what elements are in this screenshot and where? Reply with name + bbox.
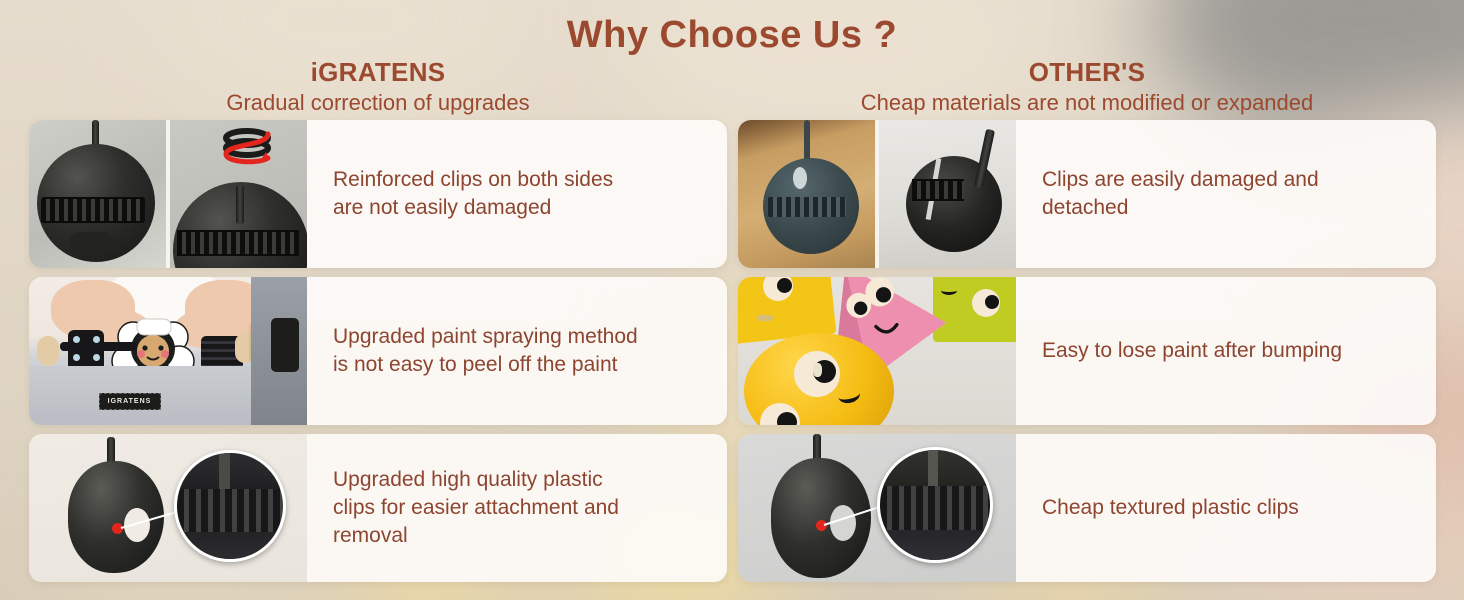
feature-card: Reinforced clips on both sides are not e… [29,120,727,268]
red-spiral-arrow-icon [208,126,286,176]
column-header-others: OTHER'S Cheap materials are not modified… [738,58,1436,116]
magnified-inset [877,447,993,563]
feature-text: Reinforced clips on both sides are not e… [307,120,727,268]
comparison-column-right: Clips are easily damaged and detached [738,120,1436,591]
feature-image-reinforced-clips [29,120,307,268]
feature-text: Upgraded high quality plastic clips for … [307,434,727,582]
feature-card: Clips are easily damaged and detached [738,120,1436,268]
page-title: Why Choose Us ? [0,14,1464,57]
feature-image-paint-spraying: IGRATENS [29,277,307,425]
column-name-left: iGRATENS [29,58,727,87]
feature-image-damaged-clips [738,120,1016,268]
brand-tag: IGRATENS [99,393,161,410]
column-subtitle-left: Gradual correction of upgrades [29,90,727,116]
feature-text: Easy to lose paint after bumping [1016,277,1436,425]
feature-text-line: detached [1042,194,1319,222]
feature-text-line: is not easy to peel off the paint [333,351,638,379]
column-subtitle-right: Cheap materials are not modified or expa… [738,90,1436,116]
feature-card: IGRATENS Upgraded paint spraying method … [29,277,727,425]
feature-image-quality-clips [29,434,307,582]
comparison-column-left: Reinforced clips on both sides are not e… [29,120,727,591]
feature-card: Cheap textured plastic clips [738,434,1436,582]
feature-text-line: Upgraded high quality plastic [333,466,619,494]
feature-text-line: Easy to lose paint after bumping [1042,337,1342,365]
feature-text-line: Clips are easily damaged and [1042,166,1319,194]
feature-text-line: Reinforced clips on both sides [333,166,613,194]
feature-text-line: Upgraded paint spraying method [333,323,638,351]
feature-text: Cheap textured plastic clips [1016,434,1436,582]
column-name-right: OTHER'S [738,58,1436,87]
feature-text-line: are not easily damaged [333,194,613,222]
column-header-igratens: iGRATENS Gradual correction of upgrades [29,58,727,116]
feature-text-line: removal [333,522,619,550]
feature-image-chipped-paint-blocks [738,277,1016,425]
feature-text: Clips are easily damaged and detached [1016,120,1436,268]
feature-text-line: Cheap textured plastic clips [1042,494,1299,522]
feature-card: Easy to lose paint after bumping [738,277,1436,425]
magnified-inset [174,450,286,562]
feature-text-line: clips for easier attachment and [333,494,619,522]
feature-image-cheap-clips [738,434,1016,582]
feature-card: Upgraded high quality plastic clips for … [29,434,727,582]
feature-text: Upgraded paint spraying method is not ea… [307,277,727,425]
